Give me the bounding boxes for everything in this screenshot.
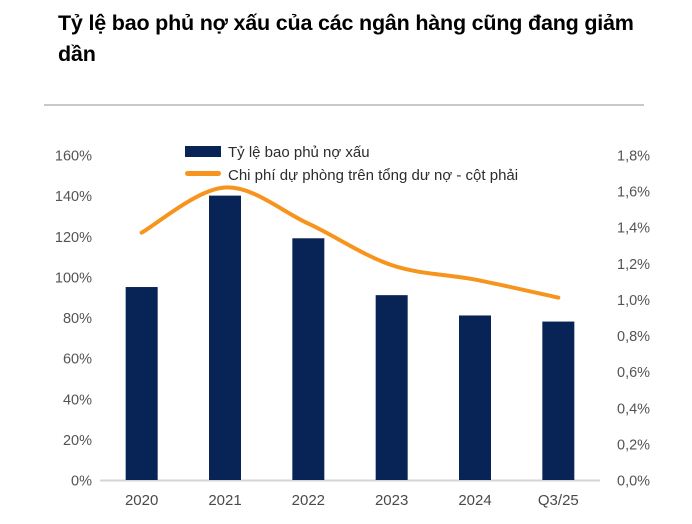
left-axis-tick-label: 60% bbox=[63, 352, 92, 368]
x-axis-tick-label: 2022 bbox=[292, 492, 325, 509]
bar bbox=[459, 315, 491, 480]
bar-series bbox=[126, 196, 575, 480]
x-axis-tick-label: 2023 bbox=[375, 492, 408, 509]
right-axis-tick-label: 0,8% bbox=[617, 329, 650, 345]
bar bbox=[126, 287, 158, 480]
x-axis-tick-label: 2021 bbox=[208, 492, 241, 509]
left-axis-tick-label: 140% bbox=[55, 189, 92, 205]
left-axis-ticks: 0%20%40%60%80%100%120%140%160% bbox=[55, 149, 92, 490]
chart-page: Tỷ lệ bao phủ nợ xấu của các ngân hàng c… bbox=[0, 0, 692, 524]
line-series bbox=[142, 187, 559, 297]
chart-canvas: 0%20%40%60%80%100%120%140%160% 0,0%0,2%0… bbox=[0, 0, 692, 524]
legend-swatch-line bbox=[185, 171, 221, 176]
bar bbox=[542, 322, 574, 480]
bar bbox=[209, 196, 241, 480]
chart-legend: Tỷ lệ bao phủ nợ xấu Chi phí dự phòng tr… bbox=[185, 144, 518, 184]
x-axis-tick-label: 2024 bbox=[458, 492, 491, 509]
left-axis-tick-label: 20% bbox=[63, 433, 92, 449]
x-axis-tick-label: 2020 bbox=[125, 492, 158, 509]
left-axis-tick-label: 0% bbox=[71, 474, 92, 490]
right-axis-tick-label: 1,4% bbox=[617, 221, 650, 237]
legend-label-line: Chi phí dự phòng trên tổng dư nợ - cột p… bbox=[228, 167, 518, 184]
left-axis-tick-label: 120% bbox=[55, 230, 92, 246]
left-axis-tick-label: 100% bbox=[55, 270, 92, 286]
right-axis-tick-label: 0,6% bbox=[617, 365, 650, 381]
x-axis-tick-label: Q3/25 bbox=[538, 492, 579, 509]
right-axis-tick-label: 1,8% bbox=[617, 149, 650, 165]
right-axis-tick-label: 1,2% bbox=[617, 257, 650, 273]
x-axis-labels: 20202021202220232024Q3/25 bbox=[125, 492, 579, 509]
bar bbox=[292, 238, 324, 480]
bar bbox=[376, 295, 408, 480]
legend-swatch-bar bbox=[185, 146, 221, 157]
right-axis-tick-label: 0,2% bbox=[617, 437, 650, 453]
right-axis-tick-label: 0,0% bbox=[617, 474, 650, 490]
right-axis-ticks: 0,0%0,2%0,4%0,6%0,8%1,0%1,2%1,4%1,6%1,8% bbox=[617, 149, 650, 490]
right-axis-tick-label: 0,4% bbox=[617, 401, 650, 417]
right-axis-tick-label: 1,0% bbox=[617, 293, 650, 309]
left-axis-tick-label: 40% bbox=[63, 392, 92, 408]
right-axis-tick-label: 1,6% bbox=[617, 185, 650, 201]
left-axis-tick-label: 160% bbox=[55, 149, 92, 165]
legend-label-bar: Tỷ lệ bao phủ nợ xấu bbox=[228, 144, 370, 161]
left-axis-tick-label: 80% bbox=[63, 311, 92, 327]
